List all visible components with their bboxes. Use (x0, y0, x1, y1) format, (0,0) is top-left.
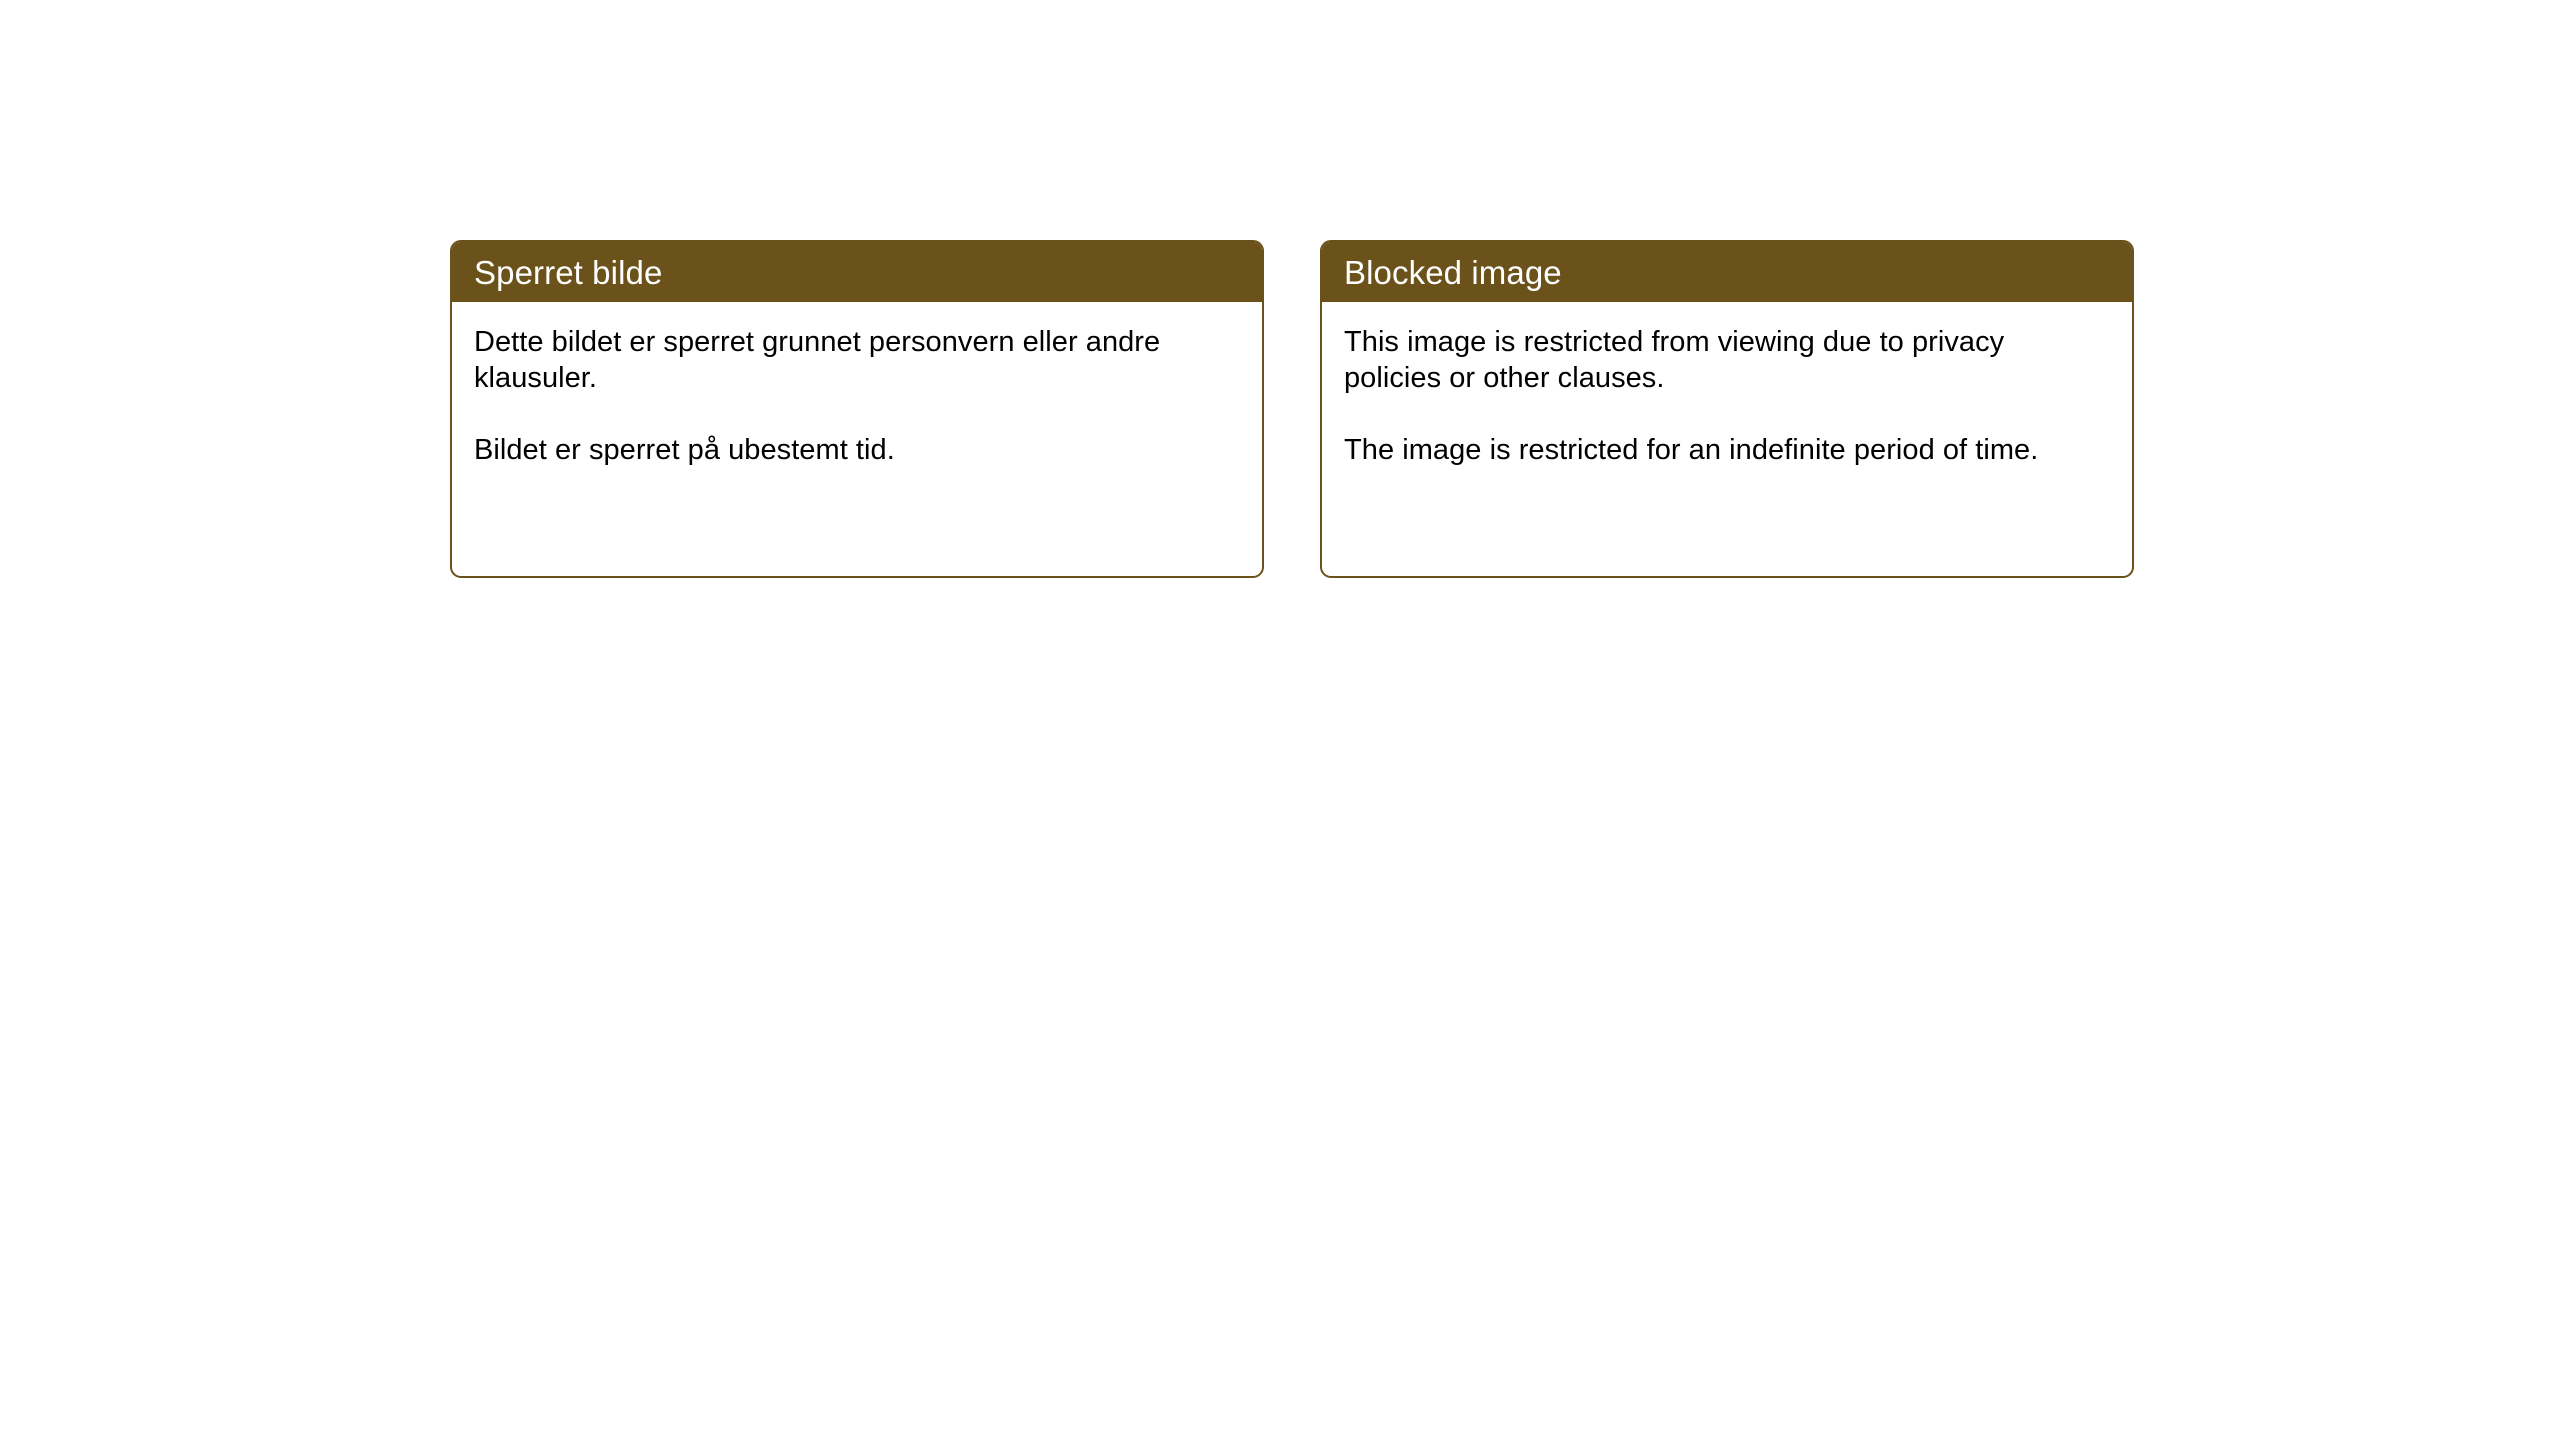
card-paragraph-reason-english: This image is restricted from viewing du… (1344, 324, 2108, 396)
card-title-norwegian: Sperret bilde (452, 256, 662, 289)
notice-canvas: Sperret bilde Dette bildet er sperret gr… (0, 0, 2560, 1440)
blocked-image-notice-card-norwegian: Sperret bilde Dette bildet er sperret gr… (450, 240, 1264, 578)
card-body-norwegian: Dette bildet er sperret grunnet personve… (452, 302, 1262, 576)
card-header-english: Blocked image (1322, 242, 2132, 302)
card-paragraph-duration-english: The image is restricted for an indefinit… (1344, 432, 2108, 468)
card-body-english: This image is restricted from viewing du… (1322, 302, 2132, 576)
card-paragraph-duration-norwegian: Bildet er sperret på ubestemt tid. (474, 432, 1238, 468)
card-header-norwegian: Sperret bilde (452, 242, 1262, 302)
card-paragraph-reason-norwegian: Dette bildet er sperret grunnet personve… (474, 324, 1238, 396)
card-title-english: Blocked image (1322, 256, 1562, 289)
blocked-image-notice-card-english: Blocked image This image is restricted f… (1320, 240, 2134, 578)
